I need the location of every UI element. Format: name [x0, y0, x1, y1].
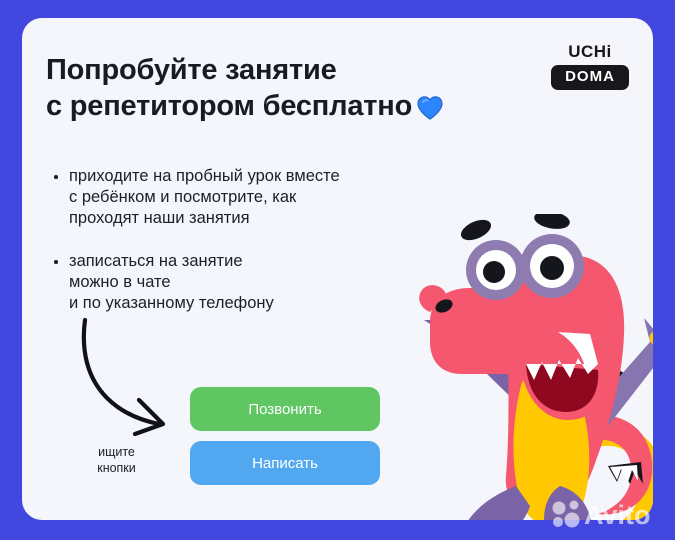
- hint-line-1: ищите: [64, 444, 169, 460]
- uchi-doma-logo: UCHi DOMA: [551, 42, 629, 90]
- promo-card: UCHi DOMA Попробуйте занятие с репетитор…: [22, 18, 653, 520]
- title-line-2-wrap: с репетитором бесплатно: [46, 88, 526, 126]
- bullet-1-line-3: проходят наши занятия: [69, 208, 449, 229]
- title-line-1: Попробуйте занятие: [46, 52, 526, 88]
- title-line-2: с репетитором бесплатно: [46, 90, 412, 122]
- bullet-1-line-1: приходите на пробный урок вместе: [69, 166, 449, 187]
- page-title: Попробуйте занятие с репетитором бесплат…: [46, 52, 526, 126]
- list-item: записаться на занятие можно в чате и по …: [49, 251, 449, 314]
- bullet-2-line-1: записаться на занятие: [69, 251, 449, 272]
- list-item: приходите на пробный урок вместе с ребён…: [49, 166, 449, 229]
- svg-text:Avito: Avito: [584, 500, 651, 530]
- bullet-1-line-2: с ребёнком и посмотрите, как: [69, 187, 449, 208]
- write-button[interactable]: Написать: [190, 441, 380, 485]
- logo-wordmark-bottom: DOMA: [551, 65, 629, 90]
- screenshot-root: UCHi DOMA Попробуйте занятие с репетитор…: [0, 0, 675, 540]
- curved-arrow-icon: [77, 316, 187, 441]
- blue-heart-icon: [417, 93, 443, 123]
- dinosaur-mascot-illustration: [412, 214, 653, 520]
- bullet-2-line-3: и по указанному телефону: [69, 293, 449, 314]
- hint-label: ищите кнопки: [64, 444, 169, 476]
- avito-watermark: Avito: [550, 496, 665, 530]
- logo-wordmark-top: UCHi: [551, 42, 629, 62]
- hint-line-2: кнопки: [64, 460, 169, 476]
- call-button[interactable]: Позвонить: [190, 387, 380, 431]
- benefits-list: приходите на пробный урок вместе с ребён…: [49, 166, 449, 336]
- bullet-2-line-2: можно в чате: [69, 272, 449, 293]
